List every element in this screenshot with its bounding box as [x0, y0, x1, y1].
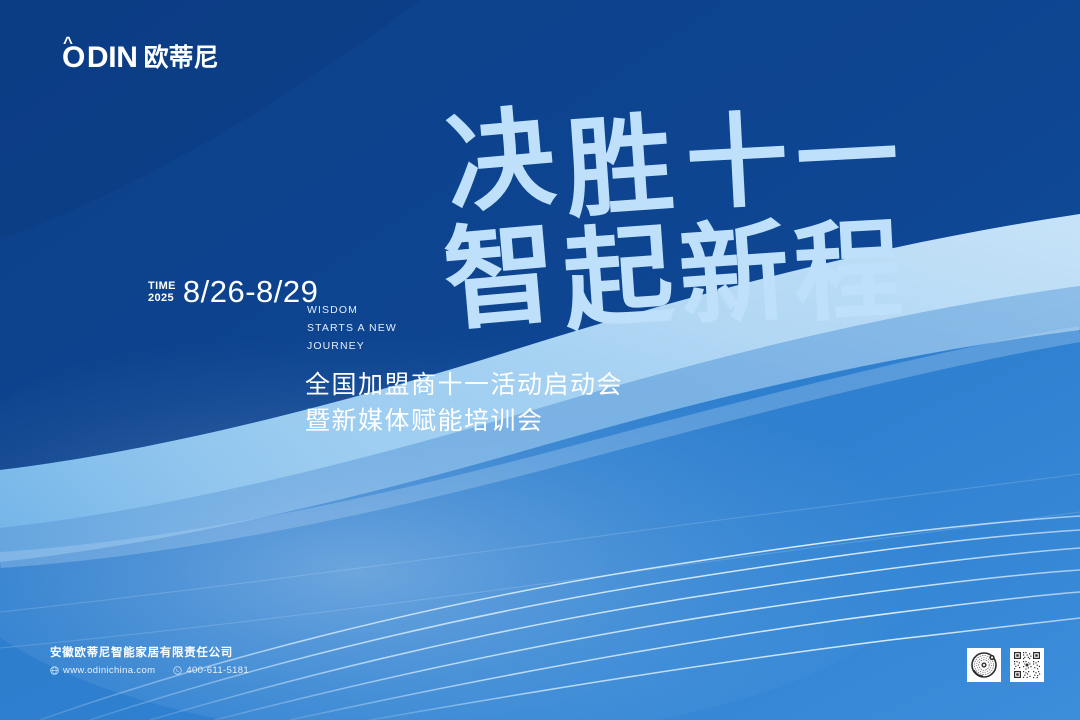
headline-char-4: 一 [793, 96, 901, 221]
subtitle-line-2: 暨新媒体赋能培训会 [305, 404, 623, 440]
footer-company-info: 安徽欧蒂尼智能家居有限责任公司 www.odinichina.com 400-6… [50, 646, 249, 675]
tagline-line-1: WISDOM [307, 301, 397, 319]
event-date-block: TIME 2025 8/26-8/29 [148, 276, 318, 307]
headline-char-7: 新 [675, 206, 794, 342]
logo-circumflex-icon: ^ [63, 34, 72, 51]
website-text[interactable]: www.odinichina.com [63, 666, 155, 676]
event-date-range: 8/26-8/29 [183, 276, 319, 307]
globe-icon [50, 666, 59, 675]
phone-item: 400-611-5181 [173, 666, 249, 676]
qr-code[interactable] [1010, 648, 1044, 682]
time-label: TIME 2025 [148, 276, 176, 305]
website-item: www.odinichina.com [50, 666, 155, 676]
subtitle-line-1: 全国加盟商十一活动启动会 [305, 368, 623, 404]
tagline-line-2: STARTS A NEW [307, 319, 397, 337]
phone-text[interactable]: 400-611-5181 [186, 666, 249, 676]
headline-char-6: 起 [559, 210, 679, 346]
contact-row: www.odinichina.com 400-611-5181 [50, 666, 249, 676]
logo-latin-text: DIN [87, 43, 138, 73]
tagline-line-3: JOURNEY [307, 337, 397, 355]
company-name: 安徽欧蒂尼智能家居有限责任公司 [50, 646, 249, 661]
english-tagline: WISDOM STARTS A NEW JOURNEY [307, 301, 397, 355]
circular-code[interactable] [967, 648, 1001, 682]
event-subtitle: 全国加盟商十一活动启动会 暨新媒体赋能培训会 [305, 368, 623, 439]
time-label-top: TIME [148, 280, 176, 292]
event-poster: ^ O DIN 欧蒂尼 决 胜 十 一 智 起 新 程 TIME 2025 8/… [0, 0, 1080, 720]
phone-icon [173, 666, 182, 675]
headline-char-8: 程 [791, 206, 905, 337]
logo-o-mark: ^ O [62, 43, 85, 73]
qr-code-group [967, 648, 1044, 682]
logo-cjk-text: 欧蒂尼 [144, 46, 219, 71]
time-label-year: 2025 [148, 292, 176, 304]
headline-calligraphy: 决 胜 十 一 智 起 新 程 [440, 108, 910, 338]
headline-char-5: 智 [439, 207, 562, 347]
brand-logo: ^ O DIN 欧蒂尼 [62, 43, 219, 73]
